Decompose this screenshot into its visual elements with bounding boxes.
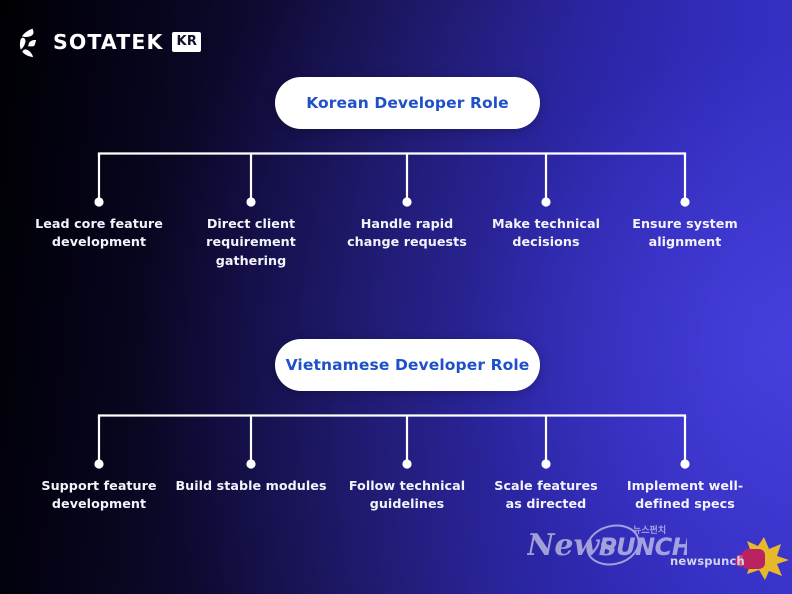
items-korean: Lead core featuredevelopment Direct clie…: [0, 215, 792, 275]
card-vietnamese-developer-role[interactable]: Vietnamese Developer Role: [275, 339, 540, 391]
item-korean-3: Handle rapidchange requests: [327, 215, 487, 252]
connector-dot: [246, 197, 255, 206]
card-korean-developer-role[interactable]: Korean Developer Role: [275, 77, 540, 129]
connector-tree-vietnamese: [0, 413, 792, 471]
connector-dot: [94, 459, 103, 468]
newspunch-secondary-watermark: newspunch: [668, 533, 790, 581]
card-title-vietnamese: Vietnamese Developer Role: [286, 356, 530, 374]
connector-dot: [680, 197, 689, 206]
connector-dot: [246, 459, 255, 468]
connector-dot: [680, 459, 689, 468]
connector-dot: [402, 459, 411, 468]
newspunch-secondary-wordmark: newspunch: [670, 554, 745, 568]
sotatek-logo-region-badge: KR: [172, 32, 201, 52]
sotatek-leaf-icon: [19, 28, 46, 57]
connector-tree-korean: [0, 151, 792, 209]
item-korean-2: Direct clientrequirement gathering: [171, 215, 331, 270]
card-title-korean: Korean Developer Role: [306, 94, 509, 112]
item-vietnamese-5: Implement well-defined specs: [605, 477, 765, 514]
item-korean-5: Ensure systemalignment: [605, 215, 765, 252]
connector-dot: [541, 459, 550, 468]
sotatek-logo: SOTATEK KR: [19, 27, 201, 57]
item-vietnamese-4: Scale featuresas directed: [466, 477, 626, 514]
item-vietnamese-1: Support featuredevelopment: [19, 477, 179, 514]
item-korean-1: Lead core featuredevelopment: [19, 215, 179, 252]
connector-dot: [402, 197, 411, 206]
connector-dot: [541, 197, 550, 206]
sotatek-logo-wordmark: SOTATEK: [53, 32, 163, 53]
item-vietnamese-3: Follow technicalguidelines: [327, 477, 487, 514]
newspunch-watermark: News PUNCH 뉴스펀치: [527, 521, 687, 567]
connector-dot: [94, 197, 103, 206]
newspunch-watermark-korean: 뉴스펀치: [633, 524, 666, 536]
slide-canvas: SOTATEK KR Korean Developer Role Lead co…: [0, 0, 792, 594]
item-korean-4: Make technicaldecisions: [466, 215, 626, 252]
item-vietnamese-2: Build stable modules: [171, 477, 331, 495]
